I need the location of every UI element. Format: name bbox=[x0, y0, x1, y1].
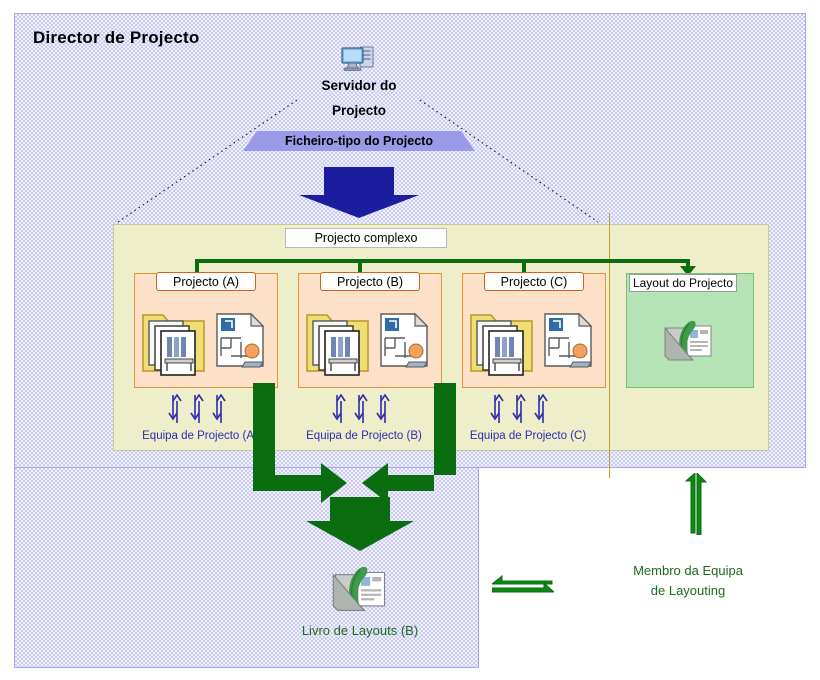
drawings-folder-icon bbox=[141, 307, 207, 377]
project-b-title: Projecto (B) bbox=[337, 275, 403, 289]
exchange-arrows-icon bbox=[168, 394, 232, 424]
server-computer-icon bbox=[339, 44, 379, 78]
team-label-c: Equipa de Projecto (C) bbox=[458, 430, 598, 442]
livro-de-layouts-label: Livro de Layouts (B) bbox=[280, 623, 440, 638]
layout-book-icon bbox=[331, 561, 389, 613]
drawings-folder-icon bbox=[305, 307, 371, 377]
pane-divider-line bbox=[609, 213, 610, 478]
green-up-arrow bbox=[683, 473, 709, 535]
blue-down-arrow bbox=[298, 167, 420, 219]
layout-do-projecto-title-chip: Layout do Projecto bbox=[629, 274, 737, 292]
team-label-a: Equipa de Projecto (A) bbox=[130, 430, 270, 442]
diagram-canvas: Director de Projecto Servidor do Project… bbox=[0, 0, 820, 680]
membro-equipa-label-line2: de Layouting bbox=[583, 581, 793, 601]
project-a-title-chip: Projecto (A) bbox=[156, 272, 256, 291]
layout-document-icon bbox=[213, 312, 269, 372]
projecto-complexo-title-chip: Projecto complexo bbox=[285, 228, 447, 248]
server-label-line2: Projecto bbox=[299, 101, 419, 121]
layout-do-projecto-title: Layout do Projecto bbox=[633, 276, 733, 290]
server-label-line1: Servidor do bbox=[299, 76, 419, 96]
project-b-title-chip: Projecto (B) bbox=[320, 272, 420, 291]
team-label-b: Equipa de Projecto (B) bbox=[294, 430, 434, 442]
layout-document-icon bbox=[377, 312, 433, 372]
exchange-arrows-icon bbox=[490, 394, 554, 424]
project-a-title: Projecto (A) bbox=[173, 275, 239, 289]
exchange-arrows-icon bbox=[332, 394, 396, 424]
projecto-complexo-title: Projecto complexo bbox=[315, 231, 418, 245]
layout-book-icon bbox=[663, 316, 715, 362]
green-exchange-arrows bbox=[492, 575, 554, 601]
project-c-title-chip: Projecto (C) bbox=[484, 272, 584, 291]
membro-equipa-label-line1: Membro da Equipa bbox=[583, 561, 793, 581]
ficheiro-tipo-banner: Ficheiro-tipo do Projecto bbox=[243, 131, 475, 151]
ficheiro-tipo-banner-label: Ficheiro-tipo do Projecto bbox=[285, 134, 433, 148]
drawings-folder-icon bbox=[469, 307, 535, 377]
tree-bus-horizontal bbox=[195, 259, 690, 263]
project-c-title: Projecto (C) bbox=[501, 275, 568, 289]
layout-document-icon bbox=[541, 312, 597, 372]
page-title: Director de Projecto bbox=[33, 28, 200, 48]
